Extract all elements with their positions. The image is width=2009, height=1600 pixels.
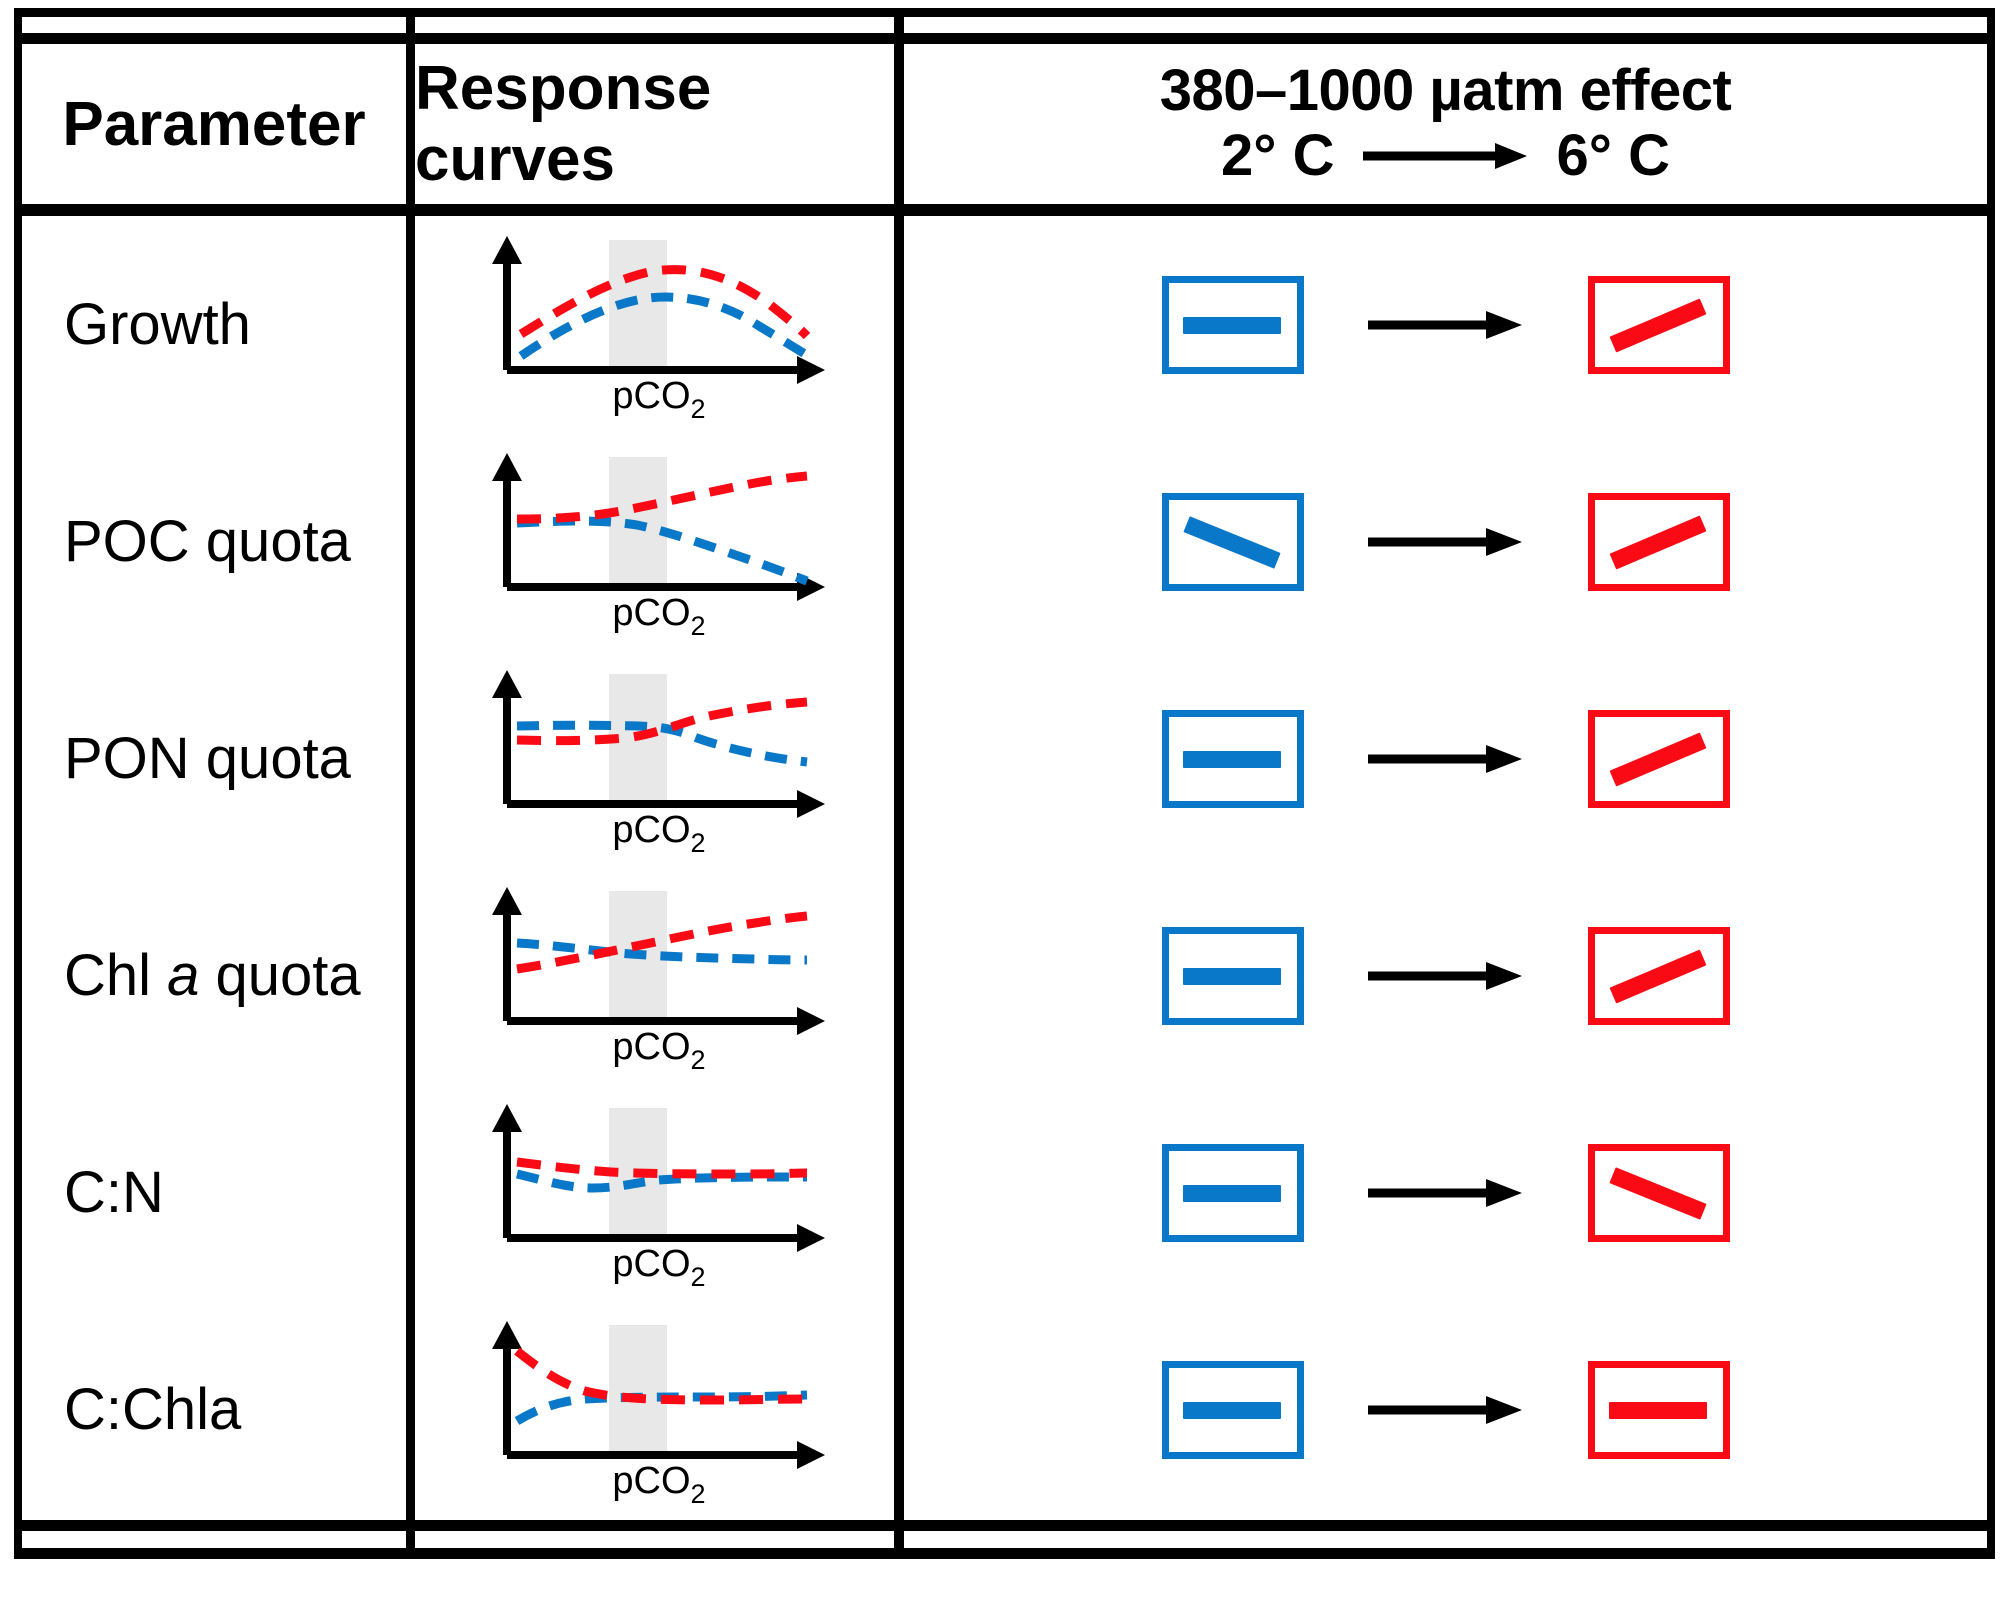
header-bottom-border	[14, 204, 1995, 216]
table-top-border-outer	[14, 8, 1995, 17]
axis-label-pco2: pCO	[612, 592, 690, 634]
table-bottom-border-inner	[14, 1520, 1995, 1531]
table-row: POC quota pCO2	[22, 433, 1987, 650]
effect-cell	[904, 1301, 1987, 1518]
parameter-text: C:N	[64, 1159, 164, 1226]
effect-mark-up	[1609, 298, 1706, 352]
table-row: Growth pCO2	[22, 216, 1987, 433]
table-right-border	[1987, 8, 1995, 1559]
svg-text:pCO2: pCO2	[612, 375, 705, 420]
response-curve-chart: pCO2	[415, 433, 902, 650]
axis-label-subscript: 2	[690, 394, 705, 420]
header-effect: 380–1000 µatm effect 2° C 6° C	[904, 44, 1987, 204]
effect-cell	[904, 216, 1987, 433]
effect-mark-flat	[1183, 968, 1281, 985]
transition-arrow-icon	[1366, 959, 1526, 993]
pco2-band	[609, 1325, 667, 1455]
svg-text:pCO2: pCO2	[612, 809, 705, 854]
effect-mark-up	[1609, 732, 1706, 786]
table-row: PON quota pCO2	[22, 650, 1987, 867]
table-bottom-border-outer	[14, 1548, 1995, 1559]
response-curve-chart: pCO2	[415, 867, 902, 1084]
header-response-curves: Response curves	[415, 44, 894, 204]
effect-mark-flat	[1183, 751, 1281, 768]
transition-arrow-icon	[1366, 1176, 1526, 1210]
axis-label-pco2: pCO	[612, 809, 690, 851]
parameter-text: Growth	[64, 291, 251, 358]
effect-cell	[904, 867, 1987, 1084]
effect-cell	[904, 1084, 1987, 1301]
svg-text:pCO2: pCO2	[612, 1460, 705, 1505]
effect-mark-down	[1183, 516, 1280, 568]
effect-mark-flat	[1609, 1402, 1707, 1419]
header-temp-high: 6° C	[1557, 126, 1670, 187]
effect-mark-flat	[1183, 1185, 1281, 1202]
axis-label-subscript: 2	[690, 611, 705, 637]
transition-arrow-icon	[1366, 525, 1526, 559]
effect-box-6c	[1588, 1144, 1730, 1242]
effect-cell	[904, 433, 1987, 650]
header-temp-low: 2° C	[1221, 126, 1334, 187]
svg-text:pCO2: pCO2	[612, 1243, 705, 1288]
effect-box-6c	[1588, 1361, 1730, 1459]
table-row: C:N pCO2	[22, 1084, 1987, 1301]
parameter-label: POC quota	[22, 433, 406, 650]
response-curve-chart: pCO2	[415, 1084, 902, 1301]
effect-box-6c	[1588, 493, 1730, 591]
transition-arrow-icon	[1366, 742, 1526, 776]
parameter-label: PON quota	[22, 650, 406, 867]
response-curve-chart: pCO2	[415, 216, 902, 433]
table-row: Chl a quota pCO2	[22, 867, 1987, 1084]
parameter-text-italic: a	[167, 942, 199, 1009]
effect-mark-flat	[1183, 1402, 1281, 1419]
axis-label-subscript: 2	[690, 828, 705, 854]
effect-mark-flat	[1183, 317, 1281, 334]
parameter-label: C:Chla	[22, 1301, 406, 1518]
parameter-label: Chl a quota	[22, 867, 406, 1084]
comparison-table: Parameter Response curves 380–1000 µatm …	[14, 8, 1995, 1592]
parameter-text: C:Chla	[64, 1376, 241, 1443]
svg-text:pCO2: pCO2	[612, 592, 705, 637]
effect-box-6c	[1588, 927, 1730, 1025]
effect-box-2c	[1162, 1361, 1304, 1459]
transition-arrow-icon	[1366, 1393, 1526, 1427]
axis-label-pco2: pCO	[612, 1026, 690, 1068]
parameter-text-chl: Chl	[64, 942, 167, 1009]
parameter-label: C:N	[22, 1084, 406, 1301]
parameter-label: Growth	[22, 216, 406, 433]
effect-box-2c	[1162, 710, 1304, 808]
effect-mark-up	[1609, 515, 1706, 569]
header-parameter: Parameter	[22, 44, 406, 204]
axis-label-subscript: 2	[690, 1479, 705, 1505]
header-effect-temperatures: 2° C 6° C	[1221, 126, 1670, 187]
effect-cell	[904, 650, 1987, 867]
response-curve-chart: pCO2	[415, 650, 902, 867]
effect-mark-up	[1609, 949, 1706, 1003]
effect-box-6c	[1588, 710, 1730, 808]
right-arrow-icon	[1361, 139, 1531, 173]
table-top-border-inner	[14, 33, 1995, 44]
parameter-text-quota: quota	[199, 942, 360, 1009]
table-left-border	[14, 8, 22, 1559]
effect-box-2c	[1162, 493, 1304, 591]
effect-box-2c	[1162, 1144, 1304, 1242]
effect-box-6c	[1588, 276, 1730, 374]
axis-label-subscript: 2	[690, 1262, 705, 1288]
axis-label-pco2: pCO	[612, 1243, 690, 1285]
response-curve-chart: pCO2	[415, 1301, 902, 1518]
axis-label-subscript: 2	[690, 1045, 705, 1071]
effect-mark-down	[1609, 1167, 1706, 1219]
transition-arrow-icon	[1366, 308, 1526, 342]
effect-box-2c	[1162, 276, 1304, 374]
svg-text:pCO2: pCO2	[612, 1026, 705, 1071]
header-effect-range: 380–1000 µatm effect	[1160, 61, 1732, 122]
axis-label-pco2: pCO	[612, 1460, 690, 1502]
table-row: C:Chla pCO2	[22, 1301, 1987, 1518]
axis-label-pco2: pCO	[612, 375, 690, 417]
parameter-text: PON quota	[64, 725, 351, 792]
parameter-text: POC quota	[64, 508, 351, 575]
effect-box-2c	[1162, 927, 1304, 1025]
